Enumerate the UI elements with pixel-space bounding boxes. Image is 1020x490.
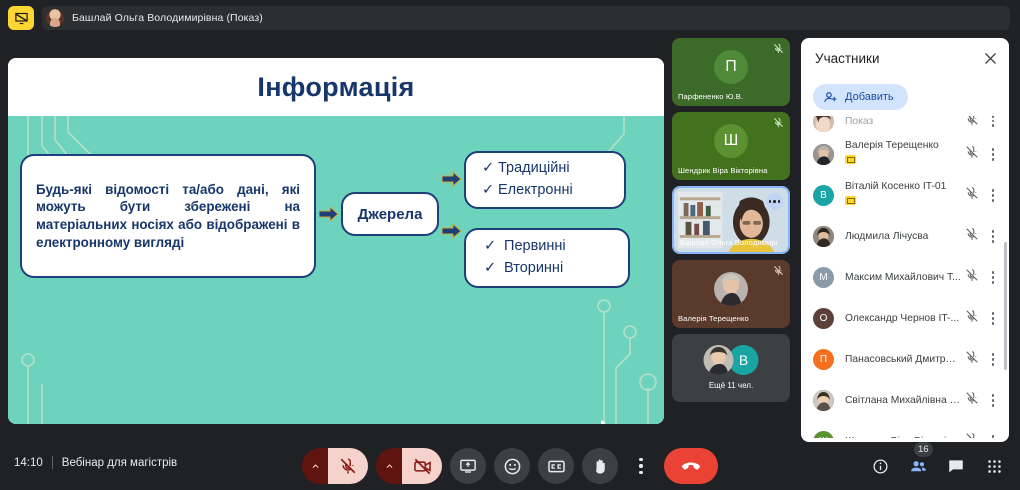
- call-controls: [302, 448, 718, 484]
- chat-icon: [947, 457, 965, 475]
- participant-name: Олександр Чернов IT-...: [845, 313, 961, 324]
- meet-window: Башлай Ольга Володимирівна (Показ) Інфор…: [0, 0, 1020, 490]
- top-bar: Башлай Ольга Володимирівна (Показ): [0, 0, 1020, 36]
- mic-off-icon: [961, 391, 983, 410]
- participant-options-button[interactable]: [983, 148, 1003, 160]
- participant-name: Максим Михайлович Т...: [845, 272, 961, 283]
- apps-grid-icon: [986, 458, 1003, 475]
- mic-off-icon: [773, 43, 784, 54]
- overflow-tile[interactable]: В Ещё 11 чел.: [672, 334, 790, 402]
- present-screen-icon: [459, 457, 477, 475]
- participant-options-button[interactable]: [983, 116, 1003, 127]
- list-item[interactable]: Людмила Лічусва: [801, 216, 1009, 257]
- check-icon: ✓: [484, 236, 500, 258]
- microphone-toggle[interactable]: [302, 448, 368, 484]
- captions-icon: [547, 457, 566, 476]
- mic-off-icon: [961, 268, 983, 287]
- slide-title-bar: Інформація: [8, 58, 664, 116]
- mic-off-icon[interactable]: [328, 448, 368, 484]
- participants-panel: Участники Добавить Показ: [801, 38, 1009, 442]
- raise-hand-button[interactable]: [582, 448, 618, 484]
- video-tile[interactable]: Ш Шендрик Віра Вікторівна: [672, 112, 790, 180]
- arrow-icon: [442, 171, 462, 187]
- avatar: О: [813, 308, 834, 329]
- participant-name: Валерія Терещенко: [845, 140, 961, 151]
- sources-order-box: ✓ Первинні ✓ Вторинні: [464, 228, 630, 288]
- participant-name: Шендрик Віра Вікторів...: [845, 436, 961, 438]
- avatar: Ш: [813, 431, 834, 438]
- list-item[interactable]: О Олександр Чернов IT-...: [801, 298, 1009, 339]
- meeting-meta: 14:10 Вебінар для магістрів: [14, 456, 177, 469]
- avatar: [813, 390, 834, 411]
- list-item[interactable]: Валерія Терещенко: [801, 134, 1009, 175]
- list-item[interactable]: Показ: [801, 116, 1009, 134]
- camera-options-caret-icon[interactable]: [376, 448, 402, 484]
- bottom-bar: 14:10 Вебінар для магістрів: [0, 442, 1020, 490]
- check-icon: ✓: [482, 158, 498, 180]
- list-item[interactable]: Світлана Михайлівна В...: [801, 380, 1009, 421]
- participant-options-button[interactable]: [983, 189, 1003, 201]
- more-options-button[interactable]: [626, 448, 656, 484]
- mic-off-icon: [773, 265, 784, 276]
- sources-label: Джерела: [358, 206, 423, 223]
- stop-presenting-icon[interactable]: [8, 6, 34, 30]
- tile-name: Башлай Ольга Володимирі: [680, 238, 782, 247]
- sources-type-box: ✓Традиційні ✓Електронні: [464, 151, 626, 209]
- participant-options-button[interactable]: [983, 394, 1003, 406]
- avatar: [46, 9, 64, 27]
- tile-name: Валерія Терещенко: [678, 314, 784, 323]
- participant-options-button[interactable]: [983, 435, 1003, 438]
- add-participant-label: Добавить: [845, 91, 894, 103]
- participant-options-button[interactable]: [983, 271, 1003, 283]
- video-tile-self[interactable]: Башлай Ольга Володимирі: [672, 186, 790, 254]
- check-icon: ✓: [482, 180, 498, 202]
- list-item[interactable]: М Максим Михайлович Т...: [801, 257, 1009, 298]
- reactions-button[interactable]: [494, 448, 530, 484]
- sharing-screen-icon: [845, 155, 856, 164]
- video-tile-column: П Парфененко Ю.В. Ш Шендрик Віра Вікторі…: [672, 38, 790, 408]
- mic-off-icon: [961, 145, 983, 164]
- participant-name: Показ: [845, 116, 961, 127]
- participant-name: Панасовський Дмитро ...: [845, 354, 961, 365]
- list-item: Електронні: [498, 182, 573, 198]
- participant-name: Віталій Косенко IT-01: [845, 181, 961, 192]
- present-screen-button[interactable]: [450, 448, 486, 484]
- participant-name: Світлана Михайлівна В...: [845, 395, 961, 406]
- list-item: Первинні: [504, 238, 566, 254]
- video-tile[interactable]: П Парфененко Ю.В.: [672, 38, 790, 106]
- avatar: [813, 144, 834, 165]
- tile-options-button[interactable]: [766, 193, 783, 210]
- participant-name: Людмила Лічусва: [845, 231, 961, 242]
- presenter-name: Башлай Ольга Володимирівна (Показ): [72, 12, 263, 24]
- participants-list[interactable]: Показ Валерія Терещенко: [801, 116, 1009, 438]
- activities-button[interactable]: [982, 454, 1006, 478]
- captions-button[interactable]: [538, 448, 574, 484]
- avatar: П: [714, 50, 748, 84]
- list-item[interactable]: П Панасовський Дмитро ...: [801, 339, 1009, 380]
- people-icon: [909, 457, 928, 476]
- tile-name: Шендрик Віра Вікторівна: [678, 166, 784, 175]
- mic-off-icon: [961, 432, 983, 438]
- mic-off-icon: [961, 116, 983, 131]
- emoji-icon: [503, 457, 522, 476]
- list-item[interactable]: В Віталій Косенко IT-01: [801, 175, 1009, 216]
- page-title: Інформація: [257, 72, 414, 103]
- avatar: П: [813, 349, 834, 370]
- sources-box: Джерела: [341, 192, 439, 236]
- participants-button[interactable]: 16: [906, 454, 930, 478]
- more-vertical-icon: [639, 458, 642, 461]
- presenter-chip[interactable]: Башлай Ольга Володимирівна (Показ): [42, 6, 1010, 30]
- avatar: Ш: [714, 124, 748, 158]
- tile-name: Парфененко Ю.В.: [678, 92, 784, 101]
- participant-options-button[interactable]: [983, 353, 1003, 365]
- meeting-details-button[interactable]: [868, 454, 892, 478]
- avatar: М: [813, 267, 834, 288]
- mic-off-icon: [961, 350, 983, 369]
- list-item: Вторинні: [504, 260, 563, 276]
- avatar: [813, 116, 834, 132]
- mic-off-icon: [961, 186, 983, 205]
- close-icon[interactable]: [977, 45, 1003, 71]
- overflow-count-label: Ещё 11 чел.: [672, 381, 790, 390]
- arrow-icon: [442, 223, 462, 239]
- avatar: [714, 272, 748, 306]
- participants-count-badge: 16: [914, 442, 933, 457]
- chat-button[interactable]: [944, 454, 968, 478]
- mic-off-icon: [961, 309, 983, 328]
- avatar: [704, 345, 734, 375]
- cursor-icon: [601, 420, 606, 424]
- video-tile[interactable]: Валерія Терещенко: [672, 260, 790, 328]
- panel-scrollbar[interactable]: [1004, 242, 1007, 370]
- info-icon: [872, 458, 889, 475]
- mic-off-icon: [961, 227, 983, 246]
- add-participant-button[interactable]: Добавить: [813, 84, 908, 110]
- right-controls: 16: [868, 454, 1006, 478]
- meeting-time: 14:10: [14, 457, 43, 469]
- hangup-icon: [679, 454, 703, 478]
- leave-call-button[interactable]: [664, 448, 718, 484]
- definition-text: Будь-які відомості та/або дані, які можу…: [36, 181, 300, 252]
- list-item[interactable]: Ш Шендрик Віра Вікторів...: [801, 421, 1009, 438]
- panel-header: Участники: [801, 38, 1009, 78]
- camera-toggle[interactable]: [376, 448, 442, 484]
- camera-off-icon[interactable]: [402, 448, 442, 484]
- panel-title: Участники: [815, 51, 977, 66]
- mic-options-caret-icon[interactable]: [302, 448, 328, 484]
- divider: [52, 456, 53, 469]
- mic-off-icon: [773, 117, 784, 128]
- meeting-name: Вебінар для магістрів: [62, 457, 177, 469]
- shared-screen-slide[interactable]: Інформація: [8, 58, 664, 424]
- definition-box: Будь-які відомості та/або дані, які можу…: [20, 154, 316, 278]
- participant-options-button[interactable]: [983, 230, 1003, 242]
- add-person-icon: [823, 90, 838, 105]
- avatar: В: [813, 185, 834, 206]
- arrow-icon: [319, 206, 339, 222]
- slide-body: Будь-які відомості та/або дані, які можу…: [8, 116, 664, 424]
- check-icon: ✓: [484, 258, 500, 280]
- raise-hand-icon: [591, 457, 610, 476]
- avatar: [813, 226, 834, 247]
- list-item: Традиційні: [498, 160, 570, 176]
- participant-options-button[interactable]: [983, 312, 1003, 324]
- sharing-screen-icon: [845, 196, 856, 205]
- overflow-avatars: В: [704, 345, 759, 375]
